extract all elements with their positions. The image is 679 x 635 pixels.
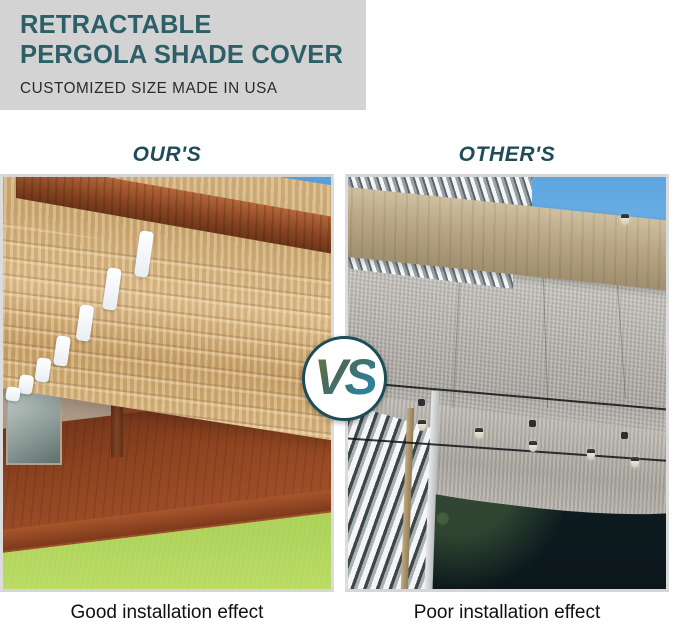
canopy-hanger [5, 386, 21, 402]
string-light-bulb [587, 449, 595, 460]
column-label-others: OTHER'S [345, 143, 669, 167]
photo-panel-ours [0, 174, 334, 592]
header-subtitle: CUSTOMIZED SIZE MADE IN USA [20, 80, 366, 98]
vs-badge-label: VS [314, 352, 375, 406]
wire-clip [529, 420, 536, 427]
header-banner: RETRACTABLE PERGOLA SHADE COVER CUSTOMIZ… [0, 0, 366, 110]
column-label-ours: OUR'S [0, 143, 334, 167]
headline-line-2: PERGOLA SHADE COVER [20, 41, 366, 70]
photo-panel-others [345, 174, 669, 592]
string-light-bulb [418, 420, 426, 431]
wire-clip [621, 432, 628, 439]
string-light-bulb [529, 441, 537, 452]
wire-clip [418, 399, 425, 406]
white-lattice-structure [348, 404, 431, 589]
caption-ours: Good installation effect [0, 602, 334, 624]
scene-good-installation [3, 177, 331, 589]
vs-badge: VS [302, 336, 387, 421]
caption-others: Poor installation effect [345, 602, 669, 624]
headline-line-1: RETRACTABLE [20, 11, 366, 40]
scene-poor-installation [348, 177, 666, 589]
